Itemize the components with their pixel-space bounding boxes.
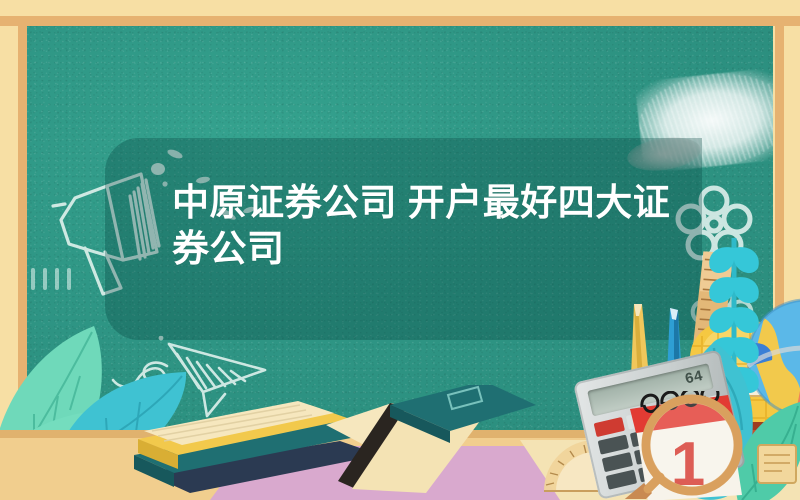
poster-canvas: 中原证券公司 开户最好四大证券公司 <box>0 0 800 500</box>
magnifying-glass <box>618 383 758 500</box>
page-title: 中原证券公司 开户最好四大证券公司 <box>172 180 692 272</box>
chalk-tick-marks <box>27 264 97 294</box>
note-card <box>756 441 800 492</box>
frame-inner-tan-top <box>0 16 800 26</box>
